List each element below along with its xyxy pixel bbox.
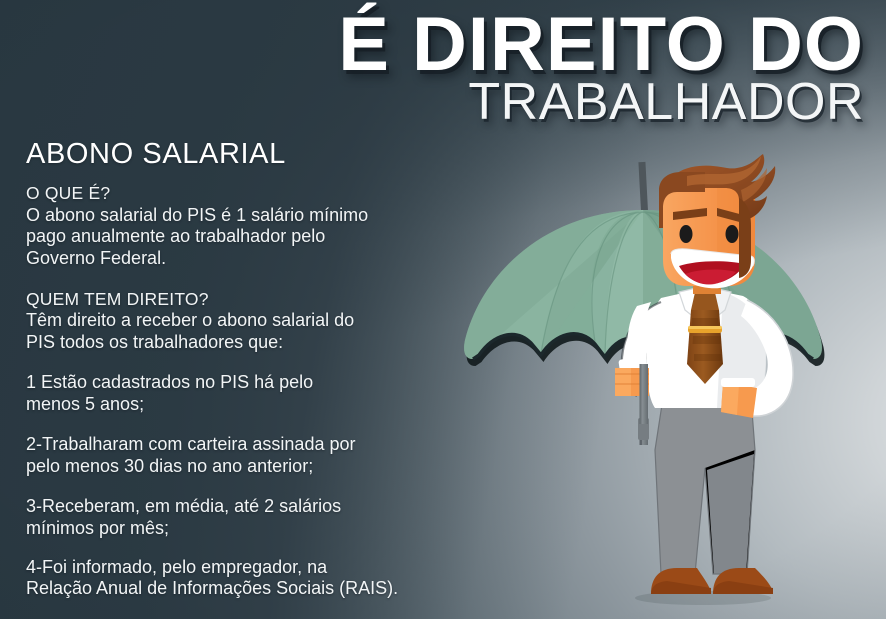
list-item: 1 Estão cadastrados no PIS há pelo menos… [26, 372, 456, 415]
list-item-1-line-2: menos 5 anos; [26, 394, 456, 416]
answer-what-line-1: O abono salarial do PIS é 1 salário míni… [26, 205, 456, 227]
spacer [26, 540, 456, 557]
answer-what-line-3: Governo Federal. [26, 248, 456, 270]
section-title: ABONO SALARIAL [26, 139, 456, 169]
list-item: 2-Trabalharam com carteira assinada por … [26, 434, 456, 477]
question-heading-who: QUEM TEM DIREITO? [26, 289, 456, 310]
list-item-3-line-2: mínimos por mês; [26, 518, 456, 540]
spacer [26, 415, 456, 434]
character-trousers [655, 398, 755, 574]
question-block-what: O QUE É? O abono salarial do PIS é 1 sal… [26, 183, 456, 269]
question-block-who: QUEM TEM DIREITO? Têm direito a receber … [26, 289, 456, 354]
illustration [455, 150, 886, 619]
poster-canvas: É DIREITO DO TRABALHADOR ABONO SALARIAL … [0, 0, 886, 619]
headline-line-1: É DIREITO DO [0, 8, 864, 82]
spacer [26, 353, 456, 372]
list-item: 3-Receberam, em média, até 2 salários mí… [26, 496, 456, 539]
list-item-4-line-1: 4-Foi informado, pelo empregador, na [26, 557, 456, 579]
list-item: 4-Foi informado, pelo empregador, na Rel… [26, 557, 456, 600]
list-item-2-line-2: pelo menos 30 dias no ano anterior; [26, 456, 456, 478]
list-item-1-line-1: 1 Estão cadastrados no PIS há pelo [26, 372, 456, 394]
character-shoes [651, 568, 773, 594]
list-item-4-line-2: Relação Anual de Informações Sociais (RA… [26, 578, 456, 600]
spacer [26, 477, 456, 496]
answer-who-line-1: Têm direito a receber o abono salarial d… [26, 310, 456, 332]
answer-what-line-2: pago anualmente ao trabalhador pelo [26, 226, 456, 248]
headline: É DIREITO DO TRABALHADOR [0, 0, 886, 128]
content-column: ABONO SALARIAL O QUE É? O abono salarial… [26, 139, 456, 600]
spacer [26, 270, 456, 289]
question-heading-what: O QUE É? [26, 183, 456, 204]
list-item-2-line-1: 2-Trabalharam com carteira assinada por [26, 434, 456, 456]
answer-who-line-2: PIS todos os trabalhadores que: [26, 332, 456, 354]
list-item-3-line-1: 3-Receberam, em média, até 2 salários [26, 496, 456, 518]
